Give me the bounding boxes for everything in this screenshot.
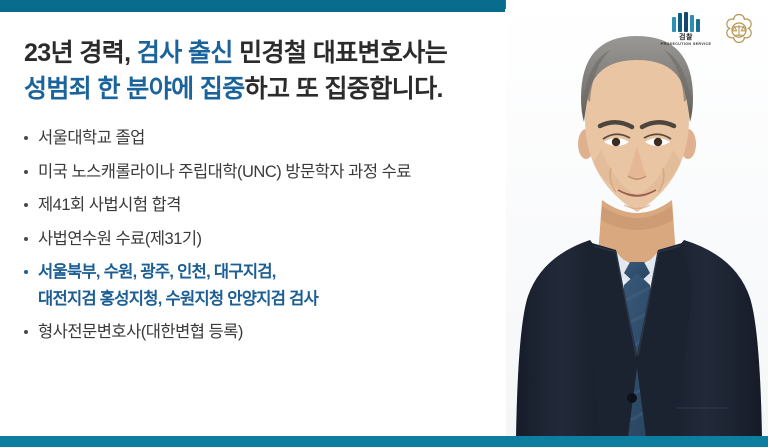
headline-line1-part-b: 민경철 대표변호사는: [233, 39, 447, 67]
profile-content: 23년 경력, 검사 출신 민경철 대표변호사는 성범죄 한 분야에 집중하고 …: [24, 36, 544, 355]
profile-banner: 검찰 PROSECUTION SERVICE: [0, 0, 768, 447]
list-item: 형사전문변호사(대한변협 등록): [24, 321, 544, 343]
list-item-label: 사법연수원 수료(제31기): [38, 230, 202, 248]
portrait-photo: [506, 0, 768, 437]
bullet-dot-icon: [24, 136, 28, 140]
list-item-label: 서울대학교 졸업: [38, 129, 145, 147]
scales-of-justice-flower-icon: [720, 12, 758, 50]
list-item-label: 형사전문변호사(대한변협 등록): [38, 323, 243, 341]
bar-association-logo: [720, 12, 758, 50]
headline-line-2: 성범죄 한 분야에 집중하고 또 집중합니다.: [24, 72, 544, 108]
top-accent-bar-dark: [0, 0, 505, 12]
list-item-label: 서울북부, 수원, 광주, 인천, 대구지검,: [38, 263, 276, 281]
prosecution-bars-icon: [672, 12, 700, 32]
headline-line2-part-b: 하고 또 집중합니다.: [245, 75, 443, 103]
list-item-highlighted: 서울북부, 수원, 광주, 인천, 대구지검, 대전지검 홍성지청, 수원지청 …: [24, 261, 544, 309]
headline-line-1: 23년 경력, 검사 출신 민경철 대표변호사는: [24, 36, 544, 72]
credentials-list: 서울대학교 졸업 미국 노스캐롤라이나 주립대학(UNC) 방문학자 과정 수료…: [24, 127, 544, 343]
bullet-dot-icon: [24, 203, 28, 207]
list-item-label: 미국 노스캐롤라이나 주립대학(UNC) 방문학자 과정 수료: [38, 163, 411, 181]
headline-line1-part-a: 23년 경력,: [24, 39, 137, 67]
prosecution-logo-label-en: PROSECUTION SERVICE: [661, 43, 712, 47]
list-item: 제41회 사법시험 합격: [24, 194, 544, 216]
list-item: 서울대학교 졸업: [24, 127, 544, 149]
bullet-dot-icon: [24, 170, 28, 174]
list-item-label-line2: 대전지검 홍성지청, 수원지청 안양지검 검사: [38, 288, 544, 310]
list-item: 사법연수원 수료(제31기): [24, 228, 544, 250]
lawyer-portrait-illustration: [506, 0, 768, 437]
list-item: 미국 노스캐롤라이나 주립대학(UNC) 방문학자 과정 수료: [24, 161, 544, 183]
logo-group: 검찰 PROSECUTION SERVICE: [663, 12, 758, 50]
bottom-accent-bar: [0, 436, 768, 447]
prosecution-service-logo: 검찰 PROSECUTION SERVICE: [663, 12, 709, 47]
headline-line2-accent: 성범죄 한 분야에 집중: [24, 75, 245, 103]
list-item-label: 제41회 사법시험 합격: [38, 196, 181, 214]
bullet-dot-icon: [24, 330, 28, 334]
page-title: 23년 경력, 검사 출신 민경철 대표변호사는 성범죄 한 분야에 집중하고 …: [24, 36, 544, 107]
bullet-dot-icon: [24, 237, 28, 241]
headline-line1-accent: 검사 출신: [137, 39, 233, 67]
bullet-dot-icon: [24, 270, 28, 274]
prosecution-logo-label-kr: 검찰: [679, 34, 693, 41]
